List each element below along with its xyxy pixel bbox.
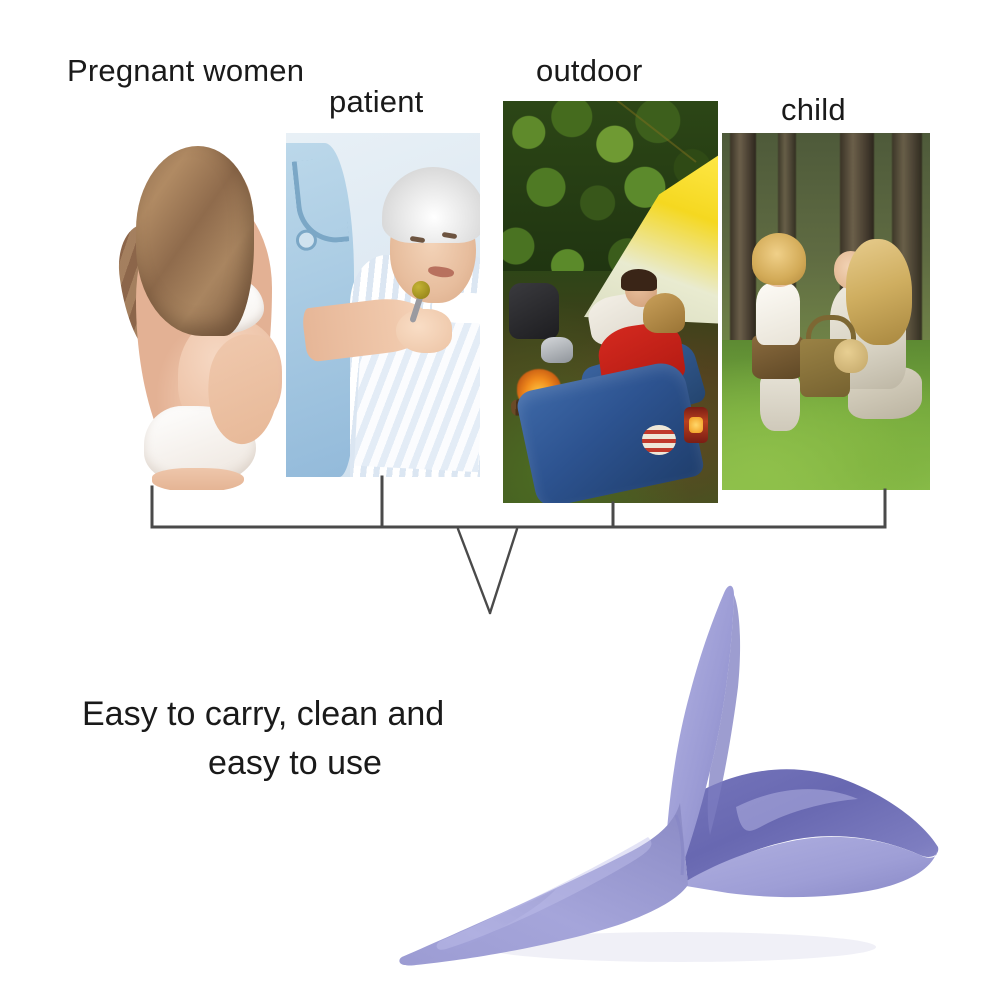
stethoscope-icon (292, 157, 350, 247)
child-hair-shape (752, 233, 806, 285)
lantern-shape (684, 407, 708, 443)
category-label-child: child (781, 92, 846, 128)
mother-hair-shape (846, 239, 912, 345)
category-label-pregnant: Pregnant women (67, 53, 304, 89)
hand-shape (396, 309, 452, 353)
photo-pregnant-woman (100, 90, 300, 490)
infographic-canvas: Pregnant women patient outdoor child (0, 0, 1000, 1000)
photo-child (722, 133, 930, 490)
cooking-pot-shape (541, 337, 573, 363)
toy-shape (834, 339, 868, 373)
camp-mug-shape (642, 425, 676, 455)
child-top-shape (756, 283, 800, 345)
camper-woman-hair-shape (643, 293, 685, 333)
camper-man-hair-shape (621, 269, 657, 291)
child-legs-shape (760, 373, 800, 431)
pill-shape (412, 281, 430, 299)
leg-shape (152, 468, 244, 490)
category-label-outdoor: outdoor (536, 53, 643, 89)
photo-outdoor-camping (503, 101, 718, 503)
category-label-patient: patient (329, 84, 423, 120)
backpack-shape (509, 283, 559, 339)
product-image-urination-funnel (380, 555, 980, 985)
photo-patient (286, 133, 480, 477)
hair-shape (136, 146, 254, 336)
